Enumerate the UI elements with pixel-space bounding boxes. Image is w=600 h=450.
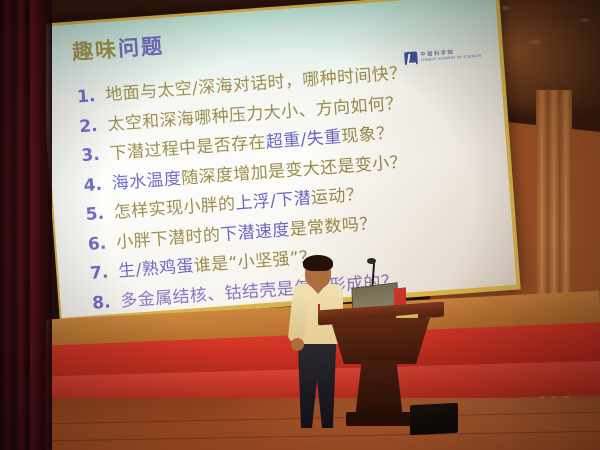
slide-item-number: 1. [71,86,96,108]
slide-item-text-segment: 下潜速度 [220,220,291,245]
slide-item-text-segment: 是常数吗？ [289,213,377,239]
left-curtain-fold [30,0,52,450]
slide-item-number: 8. [86,292,111,314]
projection-screen-frame: 趣味问题 中国科学院 CHINESE ACADEMY OF SCIENCES 1… [38,0,521,323]
slide-item-text-segment: 小胖下潜时的 [115,225,221,253]
stage-floor-monitor [410,403,458,436]
slide-item-text-segment: 运动？ [310,185,364,209]
slide-title-part2: 问题 [117,34,165,61]
microphone-icon [367,258,376,264]
slide-item-number: 4. [77,174,102,196]
slide-item-number: 7. [84,263,109,285]
slide-item-number: 5. [79,204,104,226]
slide-question-list: 1.地面与太空/深海对话时，哪种时间快？2.太空和深海哪种压力大小、方向如何？3… [70,52,506,318]
slide-item-text-segment: 超重/失重 [265,127,342,152]
slide-title-part1: 趣味 [71,37,119,64]
lectern-base [346,412,416,426]
auditorium-photo: 趣味问题 中国科学院 CHINESE ACADEMY OF SCIENCES 1… [0,0,600,450]
slide-item-text-segment: 谁是“小坚强”？ [193,247,317,276]
presenter-glasses [309,268,328,274]
slide-item-number: 3. [75,145,100,167]
slide-item-text-segment: 上浮/下潜 [235,188,312,213]
lectern-column [355,360,403,418]
slide-item-number: 2. [73,115,98,137]
slide-item-number: 6. [82,233,107,255]
slide-item-text-segment: 生/熟鸡蛋 [118,256,195,281]
slide-item-text-segment: 怎样实现小胖的 [113,194,236,223]
slide-item-text-segment: 海水温度 [111,168,182,193]
lectern-body [330,318,430,364]
projection-screen: 趣味问题 中国科学院 CHINESE ACADEMY OF SCIENCES 1… [40,0,516,318]
presenter-hand [291,338,304,351]
slide-item-text-segment: 现象？ [341,123,395,147]
